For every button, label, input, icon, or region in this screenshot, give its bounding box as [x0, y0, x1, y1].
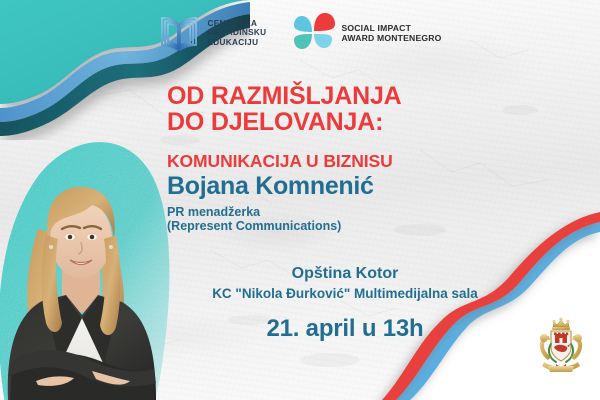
headline-line-1: OD RAZMIŠLJANJA — [167, 82, 402, 110]
speaker-name: Bojana Komnenić — [167, 172, 374, 200]
kotor-coat-of-arms — [532, 316, 590, 378]
logo-sia-line2: AWARD MONTENEGRO — [341, 33, 441, 43]
speaker-role-line-1: PR menadžerka — [167, 205, 341, 219]
four-petal-flower-icon — [292, 12, 336, 54]
speaker-role: PR menadžerka (Represent Communications) — [167, 205, 341, 233]
logo-centar-za-omladinsku-edukaciju: CENTAR ZA OMLADINSKU EDUKACIJU — [158, 13, 266, 53]
poster-canvas: CENTAR ZA OMLADINSKU EDUKACIJU SOCIAL IM… — [0, 0, 600, 400]
logo-sia-line1: SOCIAL IMPACT — [341, 23, 441, 33]
headline: OD RAZMIŠLJANJA DO DJELOVANJA: — [167, 84, 402, 135]
logo-social-impact-award: SOCIAL IMPACT AWARD MONTENEGRO — [292, 12, 441, 54]
logo-ceo-wordmark: CENTAR ZA OMLADINSKU EDUKACIJU — [207, 19, 266, 48]
subheadline: KOMUNIKACIJA U BIZNISU — [167, 152, 393, 170]
event-datetime: 21. april u 13h — [200, 315, 490, 343]
headline-line-2: DO DJELOVANJA: — [167, 110, 402, 136]
open-book-icon — [158, 13, 200, 53]
poster-text-content: OD RAZMIŠLJANJA DO DJELOVANJA: KOMUNIKAC… — [0, 0, 600, 400]
logo-ceo-line1: CENTAR ZA — [207, 19, 266, 29]
event-venue: KC "Nikola Đurković" Multimedijalna sala — [160, 286, 530, 302]
logo-row: CENTAR ZA OMLADINSKU EDUKACIJU SOCIAL IM… — [0, 8, 600, 58]
logo-sia-wordmark: SOCIAL IMPACT AWARD MONTENEGRO — [341, 23, 441, 44]
speaker-role-line-2: (Represent Communications) — [167, 219, 341, 233]
event-city: Opština Kotor — [200, 265, 490, 283]
logo-ceo-line2: OMLADINSKU — [207, 28, 266, 38]
logo-ceo-line3: EDUKACIJU — [207, 38, 266, 48]
